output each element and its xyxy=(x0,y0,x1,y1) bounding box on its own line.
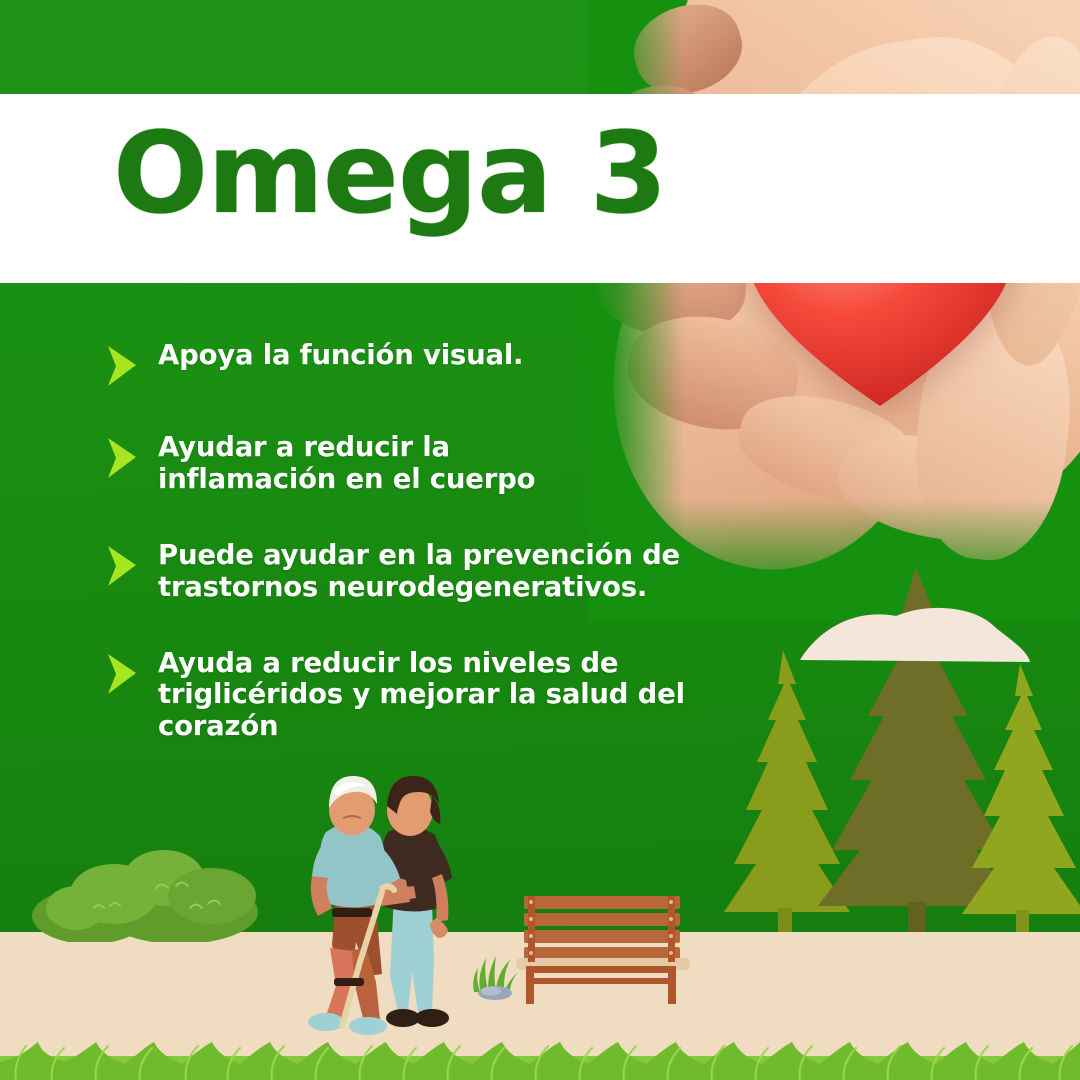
benefit-text: Ayuda a reducir los niveles de triglicér… xyxy=(158,648,728,744)
grass-strip xyxy=(0,1042,1080,1080)
chevron-right-icon xyxy=(104,344,140,388)
pine-tree-right xyxy=(960,664,1080,950)
bush xyxy=(30,846,260,942)
benefit-text: Puede ayudar en la prevención de trastor… xyxy=(158,540,738,604)
list-item: Puede ayudar en la prevención de trastor… xyxy=(104,540,764,604)
caregiver-person xyxy=(376,776,452,1027)
chevron-right-icon xyxy=(104,436,140,480)
chevron-right-icon xyxy=(104,652,140,696)
people-walking-group xyxy=(282,762,482,1052)
park-bench xyxy=(502,890,702,1010)
cloud-icon xyxy=(800,602,1030,662)
benefits-list: Apoya la función visual. Ayudar a reduci… xyxy=(104,340,764,787)
page-title: Omega 3 xyxy=(113,118,667,230)
list-item: Apoya la función visual. xyxy=(104,340,764,388)
list-item: Ayuda a reducir los niveles de triglicér… xyxy=(104,648,764,744)
benefit-text: Apoya la función visual. xyxy=(158,340,523,372)
chevron-right-icon xyxy=(104,544,140,588)
list-item: Ayudar a reducir la inflamación en el cu… xyxy=(104,432,764,496)
omega3-poster: Omega 3 Apoya la función visual. Ayudar … xyxy=(0,0,1080,1080)
benefit-text: Ayudar a reducir la inflamación en el cu… xyxy=(158,432,578,496)
